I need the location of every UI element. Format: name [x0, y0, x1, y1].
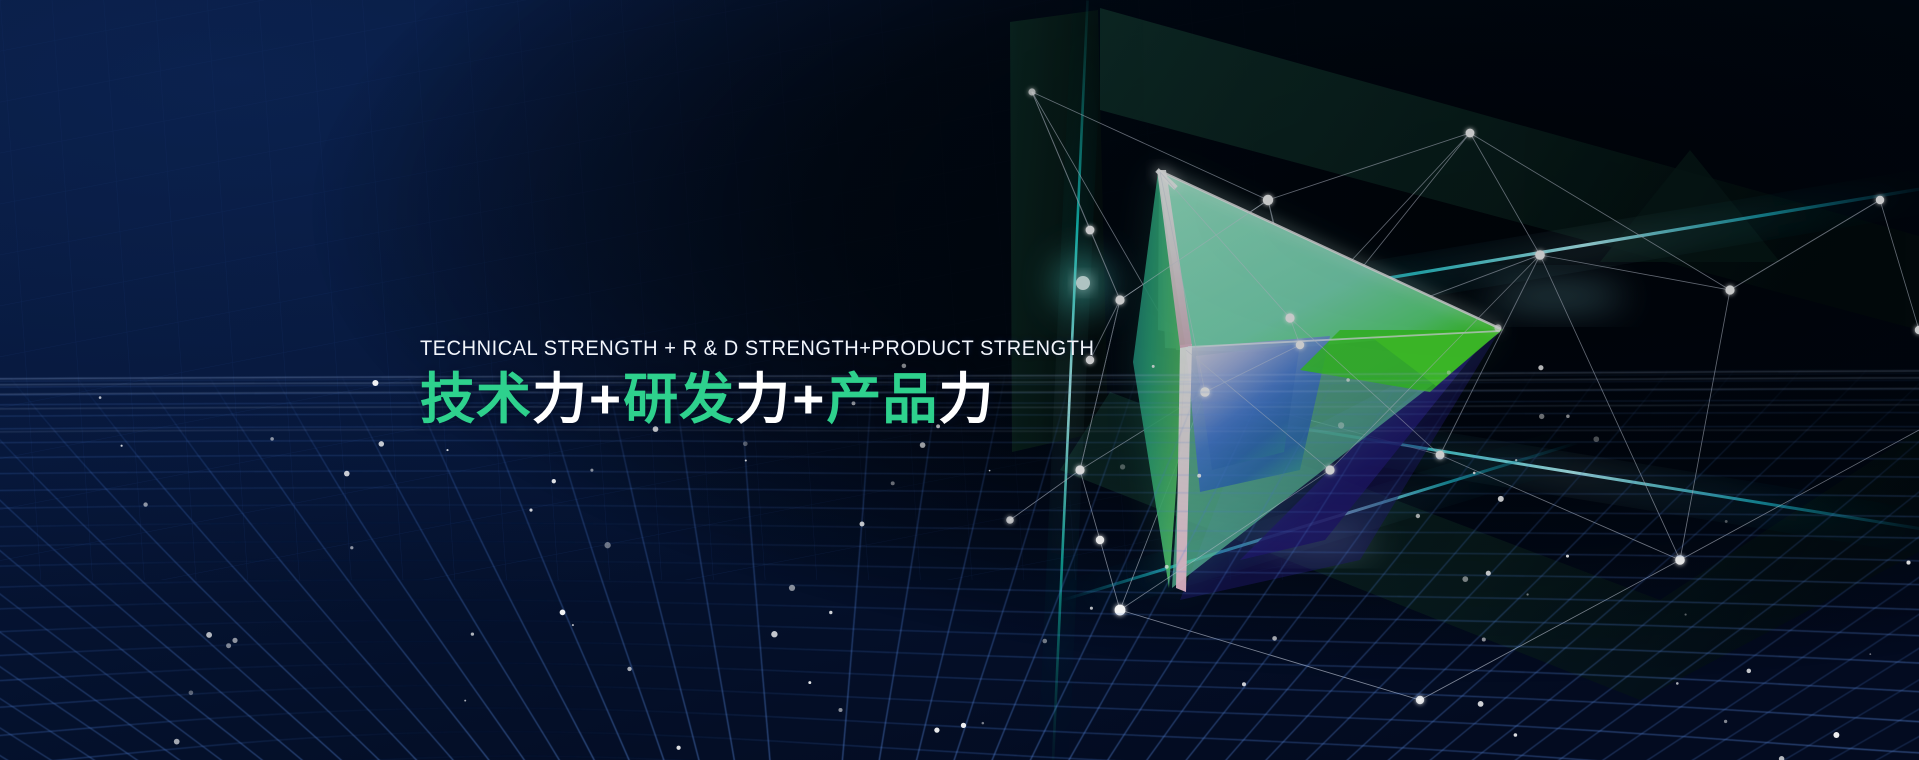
cn-seg-yanfa: 研发: [623, 368, 735, 430]
cn-seg-li-3: 力: [938, 368, 994, 430]
chinese-title: 技术力+研发力+产品力: [420, 370, 1060, 429]
cn-seg-li-1: 力: [532, 368, 588, 430]
cn-seg-jishu: 技术: [420, 368, 532, 430]
hero-banner: TECHNICAL STRENGTH + R & D STRENGTH+PROD…: [0, 0, 1919, 760]
english-subtitle: TECHNICAL STRENGTH + R & D STRENGTH+PROD…: [420, 338, 1015, 360]
cn-seg-chanpin: 产品: [826, 368, 938, 430]
headline-block: TECHNICAL STRENGTH + R & D STRENGTH+PROD…: [420, 338, 1060, 429]
cn-seg-li-2: 力: [735, 368, 791, 430]
cn-plus-2: +: [791, 368, 826, 430]
cn-plus-1: +: [588, 368, 623, 430]
